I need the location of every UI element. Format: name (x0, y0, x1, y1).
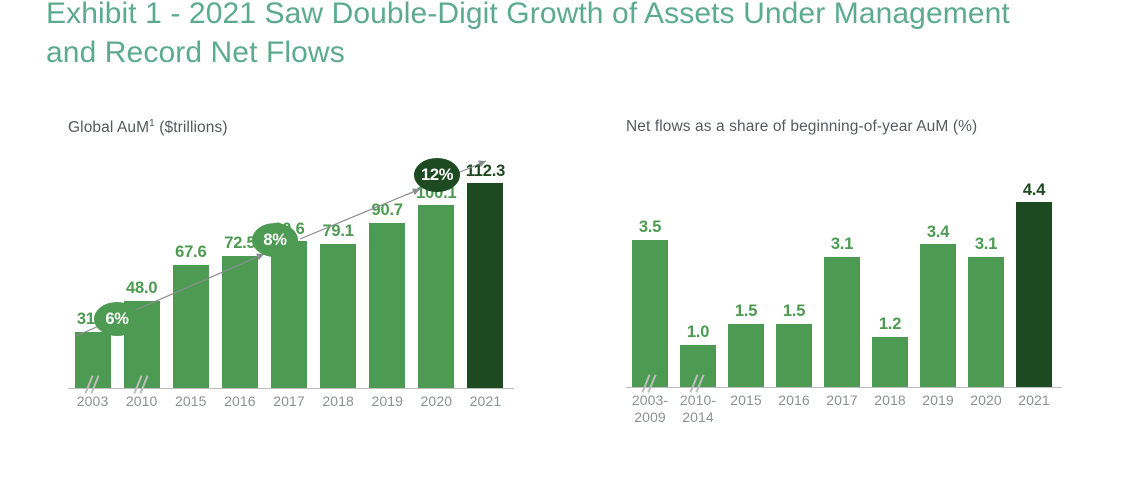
bar-slot: 3.1 (962, 150, 1010, 387)
bar[interactable] (1016, 202, 1052, 387)
bar[interactable] (369, 223, 405, 389)
x-axis-tick: 2017 (818, 392, 866, 438)
bar[interactable] (271, 241, 307, 388)
x-axis-tick: 2021 (1010, 392, 1058, 438)
bar-value-label: 1.0 (687, 324, 709, 341)
x-axis-tick: 2021 (461, 393, 510, 439)
bar[interactable] (173, 265, 209, 388)
bar-value-label: 1.5 (783, 303, 805, 320)
bar-value-label: 3.1 (975, 236, 997, 253)
bar-value-label: 1.5 (735, 303, 757, 320)
bar-slot: 4.4 (1010, 150, 1058, 387)
bar-slot: 48.0 (117, 151, 166, 388)
x-axis-tick: 2020 (962, 392, 1010, 438)
chart-subtitle-global-aum: Global AuM1 ($trillions) (68, 118, 538, 137)
bar-slot: 90.7 (363, 151, 412, 388)
bar-value-label: 112.3 (466, 163, 505, 180)
bar-slot: 80.6 (264, 151, 313, 388)
bar-value-label: 79.1 (322, 223, 353, 240)
x-axis-tick: 2018 (866, 392, 914, 438)
chart-panel-net-flows: Net flows as a share of beginning-of-yea… (626, 118, 1086, 442)
bar[interactable] (75, 332, 111, 389)
bar[interactable] (728, 324, 764, 387)
bar[interactable] (920, 244, 956, 387)
bar-slot: 1.0 (674, 150, 722, 387)
bar-slot: 3.1 (818, 150, 866, 387)
bar-slot: 100.1 (412, 151, 461, 388)
bar-value-label: 3.5 (639, 219, 661, 236)
bar-slot: 1.5 (770, 150, 818, 387)
bar-value-label: 4.4 (1023, 182, 1045, 199)
x-axis-tick: 2017 (264, 393, 313, 439)
x-axis-line (626, 387, 1062, 389)
bar-group-net-flows: 3.51.01.51.53.11.23.43.14.4 (626, 150, 1058, 387)
bar[interactable] (968, 257, 1004, 387)
x-axis-tick: 2010 (117, 393, 166, 439)
bar-value-label: 80.6 (273, 221, 304, 238)
x-axis-tick: 2019 (914, 392, 962, 438)
x-axis-tick: 2016 (770, 392, 818, 438)
bar-value-label: 48.0 (126, 280, 157, 297)
bar[interactable] (632, 240, 668, 387)
x-axis-tick: 2019 (363, 393, 412, 439)
page-title: Exhibit 1 - 2021 Saw Double-Digit Growth… (46, 0, 1086, 72)
bar-value-label: 3.1 (831, 236, 853, 253)
chart-subtitle-units: ($trillions) (155, 119, 228, 136)
bar-slot: 79.1 (314, 151, 363, 388)
bar-slot: 31.0 (68, 151, 117, 388)
bar[interactable] (222, 256, 258, 388)
bar-slot: 3.5 (626, 150, 674, 387)
x-axis-tick: 2010- 2014 (674, 392, 722, 438)
x-axis-tick: 2016 (215, 393, 264, 439)
bar[interactable] (418, 205, 454, 388)
bar-value-label: 90.7 (372, 202, 403, 219)
bar[interactable] (320, 244, 356, 388)
x-axis-tick: 2003 (68, 393, 117, 439)
chart-subtitle-net-flows: Net flows as a share of beginning-of-yea… (626, 118, 1086, 136)
bar-slot: 112.3 (461, 151, 510, 388)
bar[interactable] (776, 324, 812, 387)
bar-value-label: 3.4 (927, 224, 949, 241)
bar-value-label: 100.1 (416, 185, 456, 202)
bar-value-label: 67.6 (175, 244, 206, 261)
x-axis-tick: 2015 (722, 392, 770, 438)
bar-slot: 72.5 (215, 151, 264, 388)
bar[interactable] (124, 301, 160, 389)
bar-value-label: 1.2 (879, 316, 901, 333)
chart-panel-global-aum: Global AuM1 ($trillions) 31.048.067.672.… (68, 118, 538, 443)
x-axis-tick: 2018 (314, 393, 363, 439)
plot-area-global-aum: 31.048.067.672.580.679.190.7100.1112.3 6… (68, 151, 510, 443)
plot-area-net-flows: 3.51.01.51.53.11.23.43.14.4 2003- 200920… (626, 150, 1058, 442)
bar[interactable] (872, 337, 908, 387)
x-axis-tick: 2015 (166, 393, 215, 439)
bar-group-global-aum: 31.048.067.672.580.679.190.7100.1112.3 (68, 151, 510, 388)
x-axis-line (68, 388, 514, 390)
bar-slot: 67.6 (166, 151, 215, 388)
x-axis-tick: 2020 (412, 393, 461, 439)
bar[interactable] (680, 345, 716, 387)
bar-slot: 3.4 (914, 150, 962, 387)
bar[interactable] (467, 183, 503, 388)
bar-slot: 1.5 (722, 150, 770, 387)
bar[interactable] (824, 257, 860, 387)
x-axis-tick-labels-net-flows: 2003- 20092010- 201420152016201720182019… (626, 392, 1058, 438)
chart-subtitle-text: Global AuM (68, 119, 149, 136)
bar-value-label: 72.5 (224, 235, 255, 252)
bar-slot: 1.2 (866, 150, 914, 387)
x-axis-tick: 2003- 2009 (626, 392, 674, 438)
x-axis-tick-labels-global-aum: 200320102015201620172018201920202021 (68, 393, 510, 439)
bar-value-label: 31.0 (77, 311, 108, 328)
